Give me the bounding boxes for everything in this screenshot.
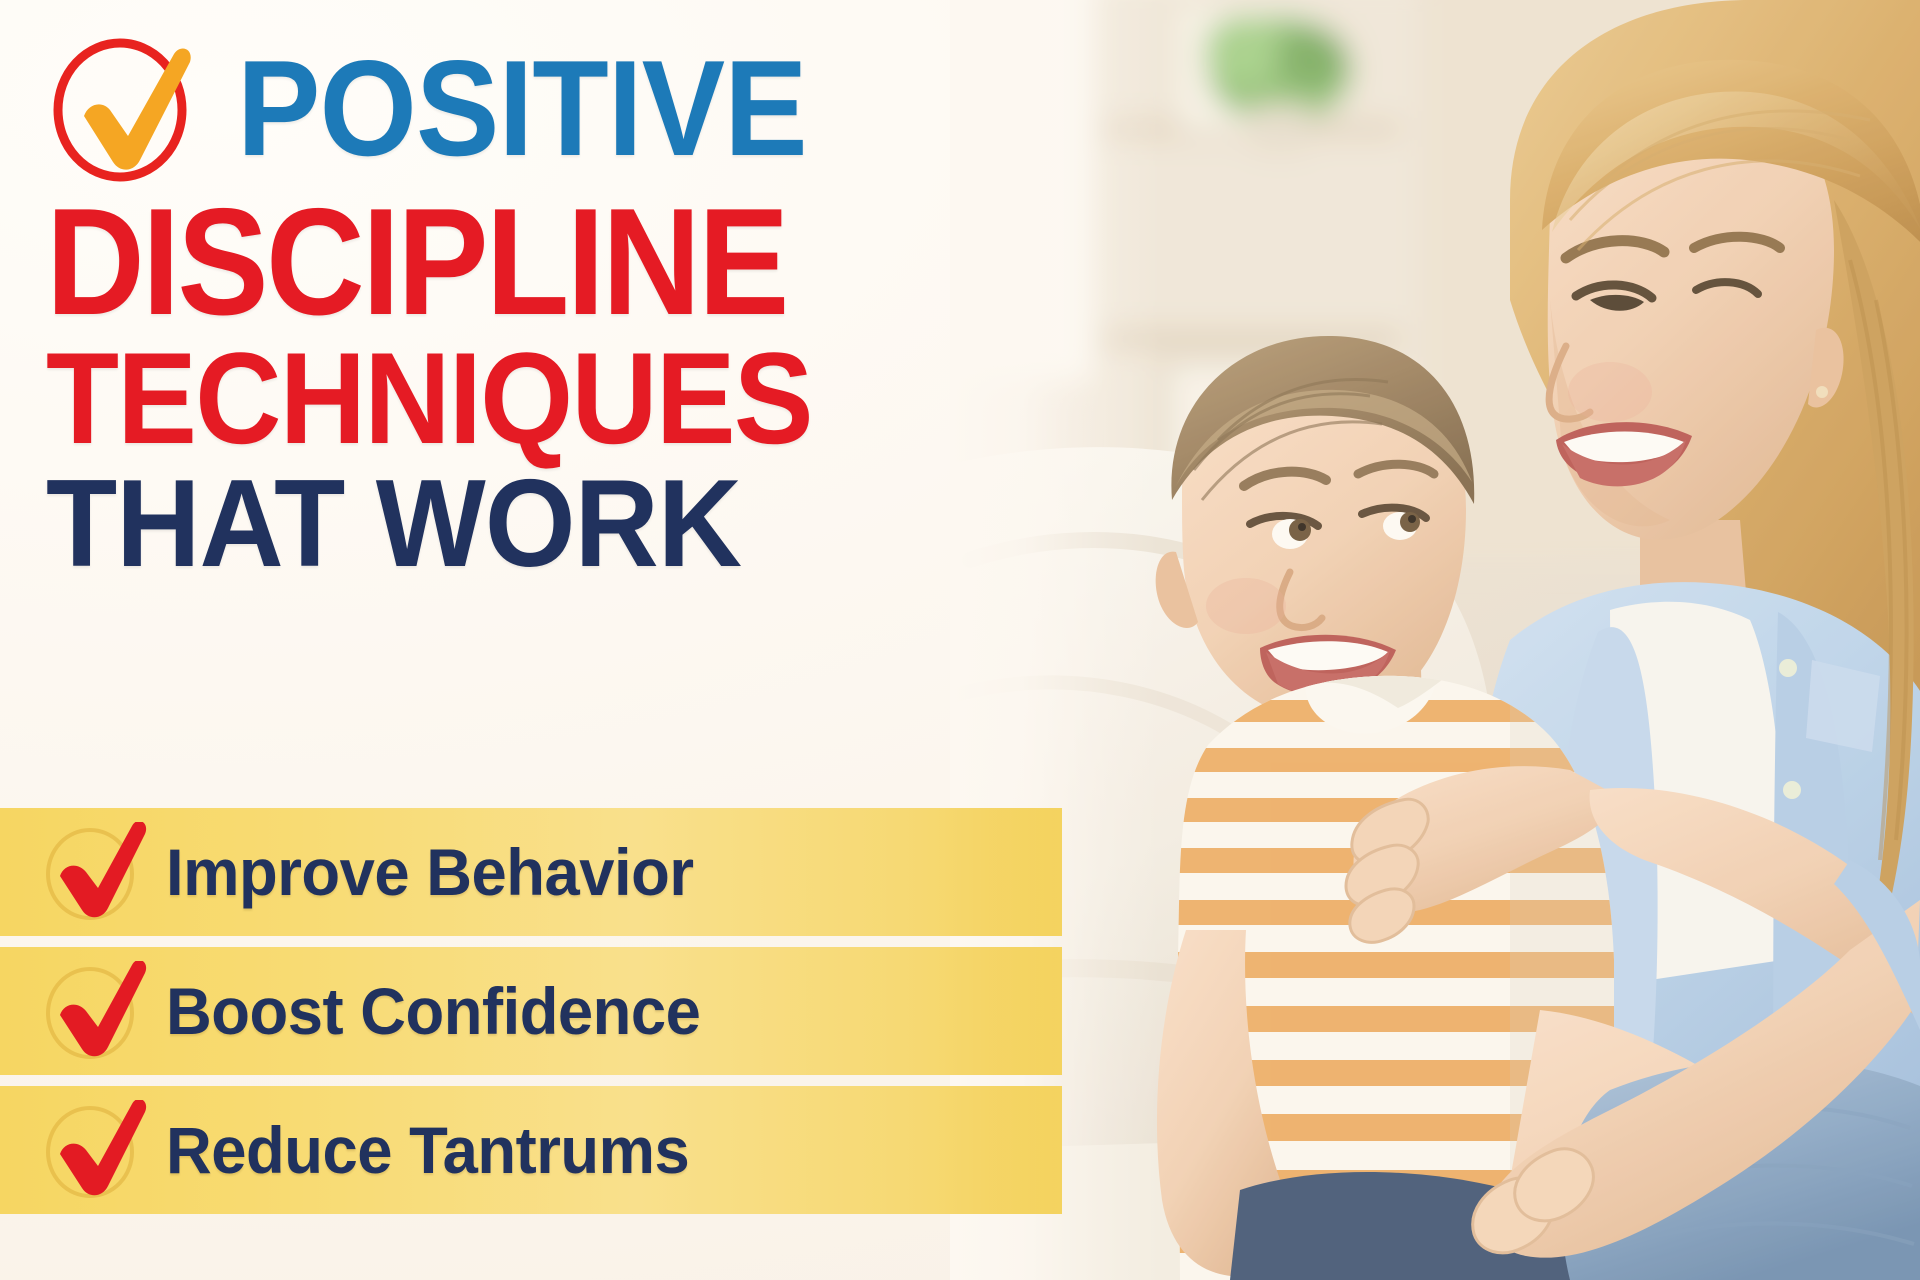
benefit-label: Boost Confidence [166,973,700,1049]
benefit-bar-reduce-tantrums: Reduce Tantrums [0,1086,1062,1214]
headline-positive: POSITIVE [237,46,807,171]
red-checkmark-icon [38,822,150,922]
headline-that-work: THAT WORK [46,469,1041,581]
benefit-bar-boost-confidence: Boost Confidence [0,947,1062,1075]
headline-line-positive: POSITIVE [44,34,1104,184]
benefits-list: Improve Behavior Boost Confidence Reduce… [0,808,1062,1214]
benefit-bar-improve-behavior: Improve Behavior [0,808,1062,936]
benefit-label: Reduce Tantrums [166,1112,689,1188]
poster-canvas: POSITIVE DISCIPLINE TECHNIQUES THAT WORK… [0,0,1920,1280]
benefit-label: Improve Behavior [166,834,694,910]
headline-block: POSITIVE DISCIPLINE TECHNIQUES THAT WORK [44,34,1104,580]
benefit-bar-divider [0,1075,1062,1086]
headline-discipline: DISCIPLINE [46,196,998,330]
red-checkmark-icon [38,1100,150,1200]
circled-checkmark-icon [44,34,209,184]
red-checkmark-icon [38,961,150,1061]
headline-techniques: TECHNIQUES [46,340,1019,457]
benefit-bar-divider [0,936,1062,947]
